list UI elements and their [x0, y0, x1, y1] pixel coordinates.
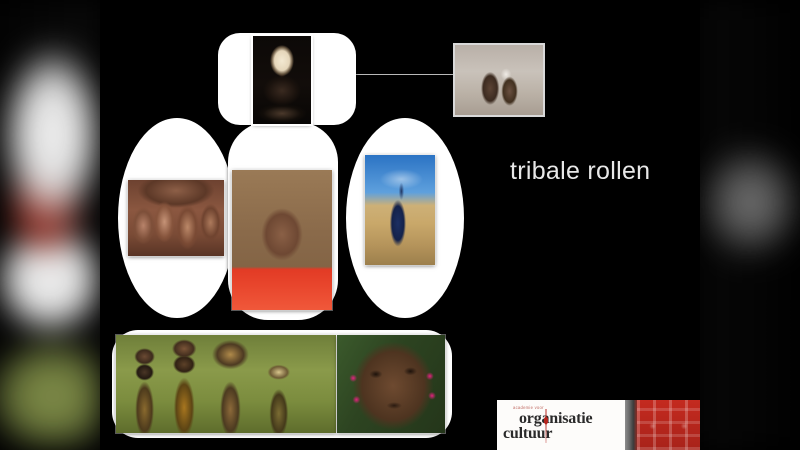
- logo-wordmark: academie voor organisatie cultuur: [497, 400, 625, 450]
- blurred-background-bleed-left: [0, 0, 102, 450]
- video-frame: tribale rollen academie voor organisatie…: [0, 0, 800, 450]
- logo-organisatiecultuur: academie voor organisatie cultuur: [497, 400, 700, 450]
- photo-woman-with-beads: [232, 170, 332, 310]
- presentation-slide: tribale rollen academie voor organisatie…: [100, 0, 700, 450]
- photo-two-seated-people: [455, 45, 543, 115]
- logo-pattern-panel: [637, 400, 700, 450]
- photo-women-carrying-pots: [116, 335, 336, 433]
- photo-tribal-mask-figurine: [253, 36, 311, 124]
- connector-line: [355, 74, 457, 75]
- logo-divider: [625, 400, 637, 450]
- photo-child-portrait: [337, 335, 445, 433]
- blurred-background-bleed-right: [700, 0, 800, 450]
- photo-person-in-grassland: [365, 155, 435, 265]
- photo-crowd-of-people: [128, 180, 224, 256]
- logo-word-two: cultuur: [503, 425, 552, 443]
- slide-title: tribale rollen: [510, 157, 700, 186]
